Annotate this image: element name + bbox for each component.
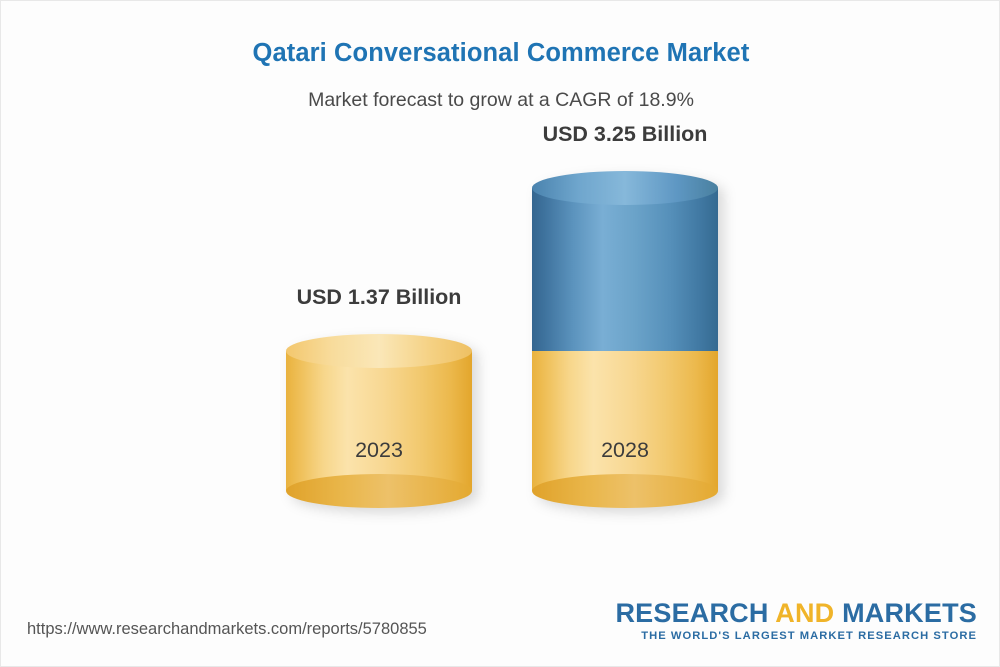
category-label-2028: 2028	[532, 438, 718, 463]
bar-segment-yellow-2028	[532, 351, 718, 491]
source-url[interactable]: https://www.researchandmarkets.com/repor…	[27, 620, 427, 639]
logo-wordmark: RESEARCH AND MARKETS	[615, 599, 977, 627]
logo-word-and: AND	[775, 598, 834, 628]
chart-canvas: Qatari Conversational Commerce Market Ma…	[0, 0, 1000, 667]
logo-word-research: RESEARCH	[615, 598, 768, 628]
chart-subtitle: Market forecast to grow at a CAGR of 18.…	[1, 89, 1000, 112]
bar-value-label-2028: USD 3.25 Billion	[532, 122, 718, 147]
plot-area: USD 1.37 Billion 2023 USD 3.25 Billion	[1, 141, 1000, 571]
category-label-2023: 2023	[286, 438, 472, 463]
bar-segment-yellow-2023	[286, 351, 472, 491]
logo-tagline: THE WORLD'S LARGEST MARKET RESEARCH STOR…	[615, 630, 977, 642]
bar-segment-blue-2028	[532, 188, 718, 351]
logo-word-markets: MARKETS	[842, 598, 977, 628]
bar-value-label-2023: USD 1.37 Billion	[286, 285, 472, 310]
chart-title: Qatari Conversational Commerce Market	[1, 39, 1000, 68]
research-and-markets-logo[interactable]: RESEARCH AND MARKETS THE WORLD'S LARGEST…	[615, 599, 977, 642]
